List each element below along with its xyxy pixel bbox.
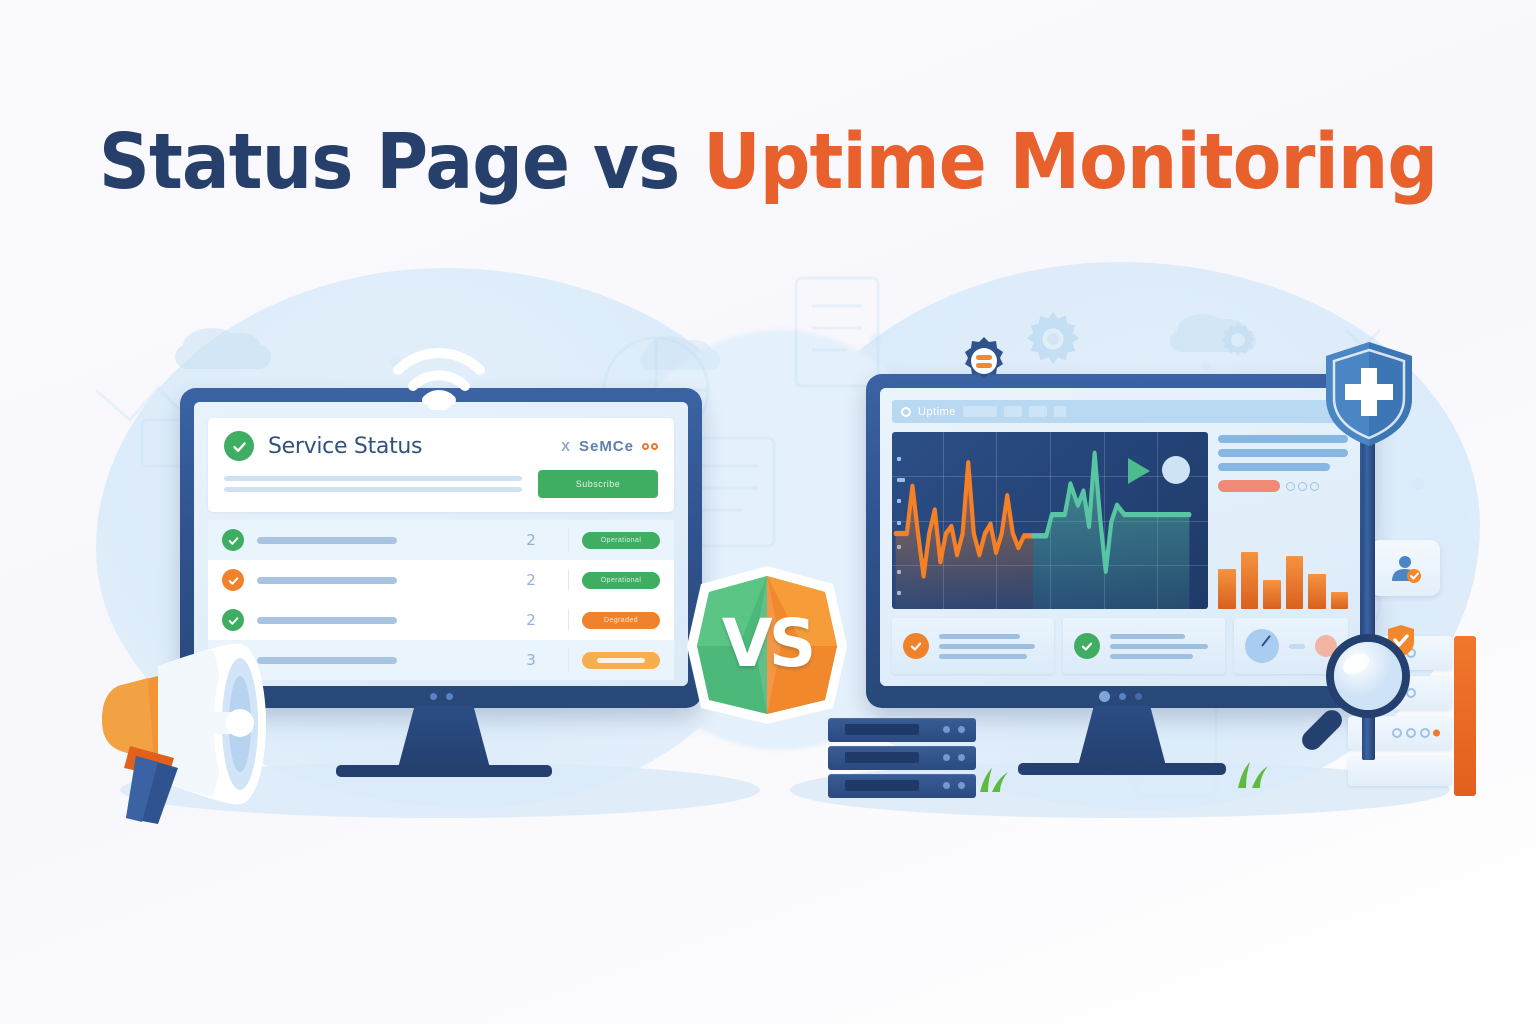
status-header-card: Service Status X SeMCe xyxy=(208,418,674,512)
status-rings-icon xyxy=(1286,482,1319,491)
row-name-placeholder xyxy=(257,617,397,624)
indicator-dot xyxy=(430,693,437,700)
chart-marker-dot xyxy=(1162,456,1190,484)
server-led xyxy=(943,754,950,761)
server-led xyxy=(943,782,950,789)
subscribe-button[interactable]: Subscribe xyxy=(538,470,658,498)
row-status-badge: Degraded xyxy=(582,612,660,629)
server-unit xyxy=(828,746,976,770)
magnifying-glass-icon xyxy=(1292,628,1420,756)
indicator-dot xyxy=(1099,691,1110,702)
topbar-segment xyxy=(1029,406,1047,417)
brand-dots-icon xyxy=(642,443,658,450)
gear-decoration-icon xyxy=(1218,320,1258,360)
header-placeholder-lines xyxy=(224,476,522,492)
dashboard-cards xyxy=(892,618,1348,674)
bar xyxy=(1308,574,1326,609)
title-right-text: Uptime Monitoring xyxy=(703,118,1437,207)
user-badge-icon xyxy=(1370,540,1440,596)
brand-name-label: SeMCe xyxy=(579,438,634,455)
wifi-icon xyxy=(384,336,494,410)
row-value: 2 xyxy=(507,611,555,629)
bar xyxy=(1331,592,1349,609)
topbar-segment xyxy=(1004,406,1022,417)
row-value: 2 xyxy=(507,571,555,589)
brand-x-label: X xyxy=(561,439,571,454)
grass-decoration xyxy=(1234,760,1274,788)
title-left-text: Status Page vs xyxy=(99,118,703,207)
server-slot xyxy=(845,752,919,763)
bar xyxy=(1263,580,1281,609)
server-slot xyxy=(845,724,919,735)
badge-progress-bar xyxy=(597,658,645,663)
row-value: 2 xyxy=(507,531,555,549)
indicator-dot xyxy=(446,693,453,700)
row-divider xyxy=(568,609,569,631)
row-status-badge xyxy=(582,652,660,669)
bar xyxy=(1286,556,1304,609)
row-status-icon xyxy=(222,569,244,591)
vs-label: VS xyxy=(683,562,851,728)
indicator-dot xyxy=(1119,693,1126,700)
row-divider xyxy=(568,529,569,551)
status-ok-icon xyxy=(224,431,254,461)
document-card xyxy=(1348,756,1452,786)
row-status-badge: Operational xyxy=(582,572,660,589)
card-status-icon xyxy=(903,633,929,659)
list-item[interactable] xyxy=(892,618,1054,674)
card-placeholder-lines xyxy=(939,634,1043,659)
bar xyxy=(1218,569,1236,609)
bar xyxy=(1241,552,1259,609)
document-accent-panel xyxy=(1454,636,1476,796)
row-divider xyxy=(568,649,569,671)
illustration-canvas: Status Page vs Uptime Monitoring xyxy=(0,0,1536,1024)
row-status-badge: Operational xyxy=(582,532,660,549)
card-placeholder-lines xyxy=(1110,634,1214,659)
dashboard-topbar: Uptime xyxy=(892,400,1348,423)
row-status-icon xyxy=(222,529,244,551)
table-row[interactable]: 2 Operational xyxy=(208,520,674,560)
table-row[interactable]: 2 Operational xyxy=(208,560,674,600)
side-pill-row xyxy=(1218,480,1348,492)
uptime-dashboard-ui[interactable]: Uptime xyxy=(880,388,1360,686)
chart-series-svg xyxy=(892,432,1208,609)
row-value: 3 xyxy=(507,651,555,669)
shield-check-icon xyxy=(1322,340,1416,448)
server-unit xyxy=(828,774,976,798)
side-placeholder-line xyxy=(1218,449,1348,457)
play-triangle-icon[interactable] xyxy=(1128,458,1150,484)
left-monitor-stand-base xyxy=(336,765,552,777)
settings-badge-icon xyxy=(958,335,1010,387)
server-led xyxy=(958,782,965,789)
dashboard-side-panel xyxy=(1218,432,1348,609)
right-monitor-stand-base xyxy=(1018,763,1226,775)
row-divider xyxy=(568,569,569,591)
mini-bar-chart xyxy=(1218,547,1348,609)
gauge-icon xyxy=(1245,629,1279,663)
card-alert-dot xyxy=(1433,730,1440,737)
gear-decoration-icon xyxy=(1022,308,1084,370)
card-status-icon xyxy=(1074,633,1100,659)
server-led xyxy=(958,726,965,733)
dashboard-main xyxy=(892,432,1348,609)
status-brand: X SeMCe xyxy=(561,438,658,455)
grass-decoration xyxy=(976,766,1016,792)
status-ring-icon xyxy=(901,407,911,417)
topbar-segment xyxy=(1054,406,1066,417)
indicator-dot xyxy=(1135,693,1142,700)
megaphone-icon xyxy=(62,628,318,824)
dashboard-topbar-label: Uptime xyxy=(918,406,956,418)
status-page-title: Service Status xyxy=(268,434,422,459)
vs-shield-badge: VS xyxy=(683,562,851,728)
list-item[interactable] xyxy=(1063,618,1225,674)
alert-pill xyxy=(1218,480,1280,492)
page-title: Status Page vs Uptime Monitoring xyxy=(61,118,1474,207)
side-placeholder-line xyxy=(1218,463,1330,471)
server-led xyxy=(958,754,965,761)
latency-chart[interactable] xyxy=(892,432,1208,609)
row-name-placeholder xyxy=(257,577,397,584)
monitor-screen[interactable]: Uptime xyxy=(880,388,1360,686)
row-name-placeholder xyxy=(257,537,397,544)
topbar-segment xyxy=(963,406,997,417)
server-rack-icon xyxy=(828,718,976,802)
server-slot xyxy=(845,780,919,791)
server-led xyxy=(943,726,950,733)
